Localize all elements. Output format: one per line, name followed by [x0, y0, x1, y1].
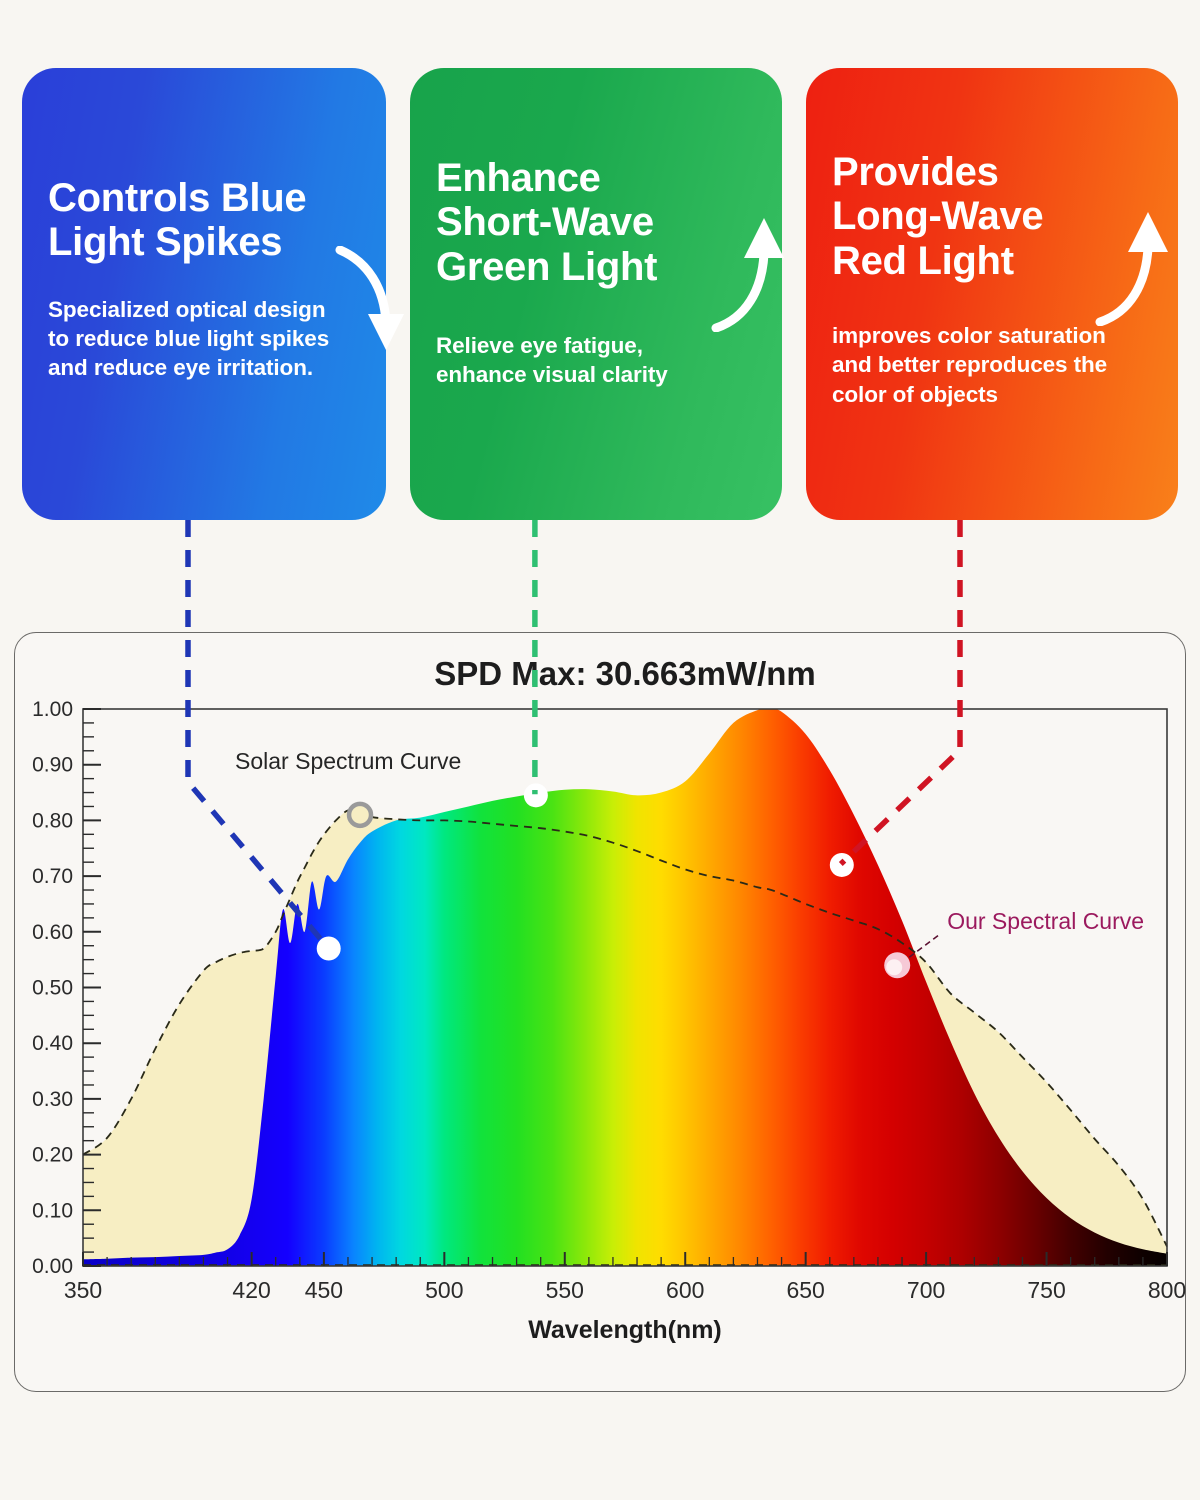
blue-callout-marker: [317, 937, 341, 961]
solar-spectrum-curve-label: Solar Spectrum Curve: [235, 748, 461, 774]
chart-title: SPD Max: 30.663mW/nm: [434, 655, 815, 692]
y-tick-label: 0.10: [32, 1199, 73, 1222]
card-enhance-short-wave-green-light[interactable]: Enhance Short-Wave Green Light Relieve e…: [410, 68, 782, 520]
gray-ring-marker: [349, 804, 371, 826]
card-body-blue: Specialized optical design to reduce blu…: [48, 295, 360, 383]
card-controls-blue-light-spikes[interactable]: Controls Blue Light Spikes Specialized o…: [22, 68, 386, 520]
x-tick-label: 750: [1027, 1277, 1065, 1303]
y-tick-label: 0.70: [32, 865, 73, 888]
spectral-power-distribution-chart: 0.000.100.200.300.400.500.600.700.800.90…: [15, 633, 1187, 1393]
card-body-green: Relieve eye fatigue, enhance visual clar…: [436, 331, 756, 390]
x-tick-label: 800: [1148, 1277, 1186, 1303]
y-tick-label: 0.60: [32, 921, 73, 944]
x-tick-label: 450: [305, 1277, 343, 1303]
card-body-red: improves color saturation and better rep…: [832, 321, 1152, 409]
y-tick-label: 0.90: [32, 754, 73, 777]
green-callout-marker: [524, 783, 548, 807]
x-tick-label: 420: [232, 1277, 270, 1303]
spectrum-infographic: Controls Blue Light Spikes Specialized o…: [0, 0, 1200, 1500]
y-tick-label: 0.00: [32, 1255, 73, 1278]
x-axis-title: Wavelength(nm): [528, 1316, 722, 1344]
y-tick-label: 0.40: [32, 1032, 73, 1055]
y-tick-label: 0.50: [32, 977, 73, 1000]
red-callout-marker: [830, 853, 854, 877]
y-tick-label: 0.30: [32, 1088, 73, 1111]
x-tick-label: 700: [907, 1277, 945, 1303]
feature-cards: Controls Blue Light Spikes Specialized o…: [0, 0, 1200, 540]
x-tick-label: 600: [666, 1277, 704, 1303]
y-tick-label: 0.80: [32, 809, 73, 832]
x-tick-label: 350: [64, 1277, 102, 1303]
y-tick-label: 1.00: [32, 698, 73, 721]
our-curve-leader-line: [909, 933, 941, 957]
x-tick-label: 500: [425, 1277, 463, 1303]
x-tick-label: 550: [546, 1277, 584, 1303]
our-spectral-curve-label: Our Spectral Curve: [947, 908, 1144, 934]
card-title-red: Provides Long-Wave Red Light: [832, 150, 1152, 283]
card-title-blue: Controls Blue Light Spikes: [48, 176, 360, 265]
card-title-green: Enhance Short-Wave Green Light: [436, 156, 756, 289]
spectrum-chart-panel: 0.000.100.200.300.400.500.600.700.800.90…: [14, 632, 1186, 1392]
x-tick-label: 650: [786, 1277, 824, 1303]
y-tick-label: 0.20: [32, 1144, 73, 1167]
card-provides-long-wave-red-light[interactable]: Provides Long-Wave Red Light improves co…: [806, 68, 1178, 520]
